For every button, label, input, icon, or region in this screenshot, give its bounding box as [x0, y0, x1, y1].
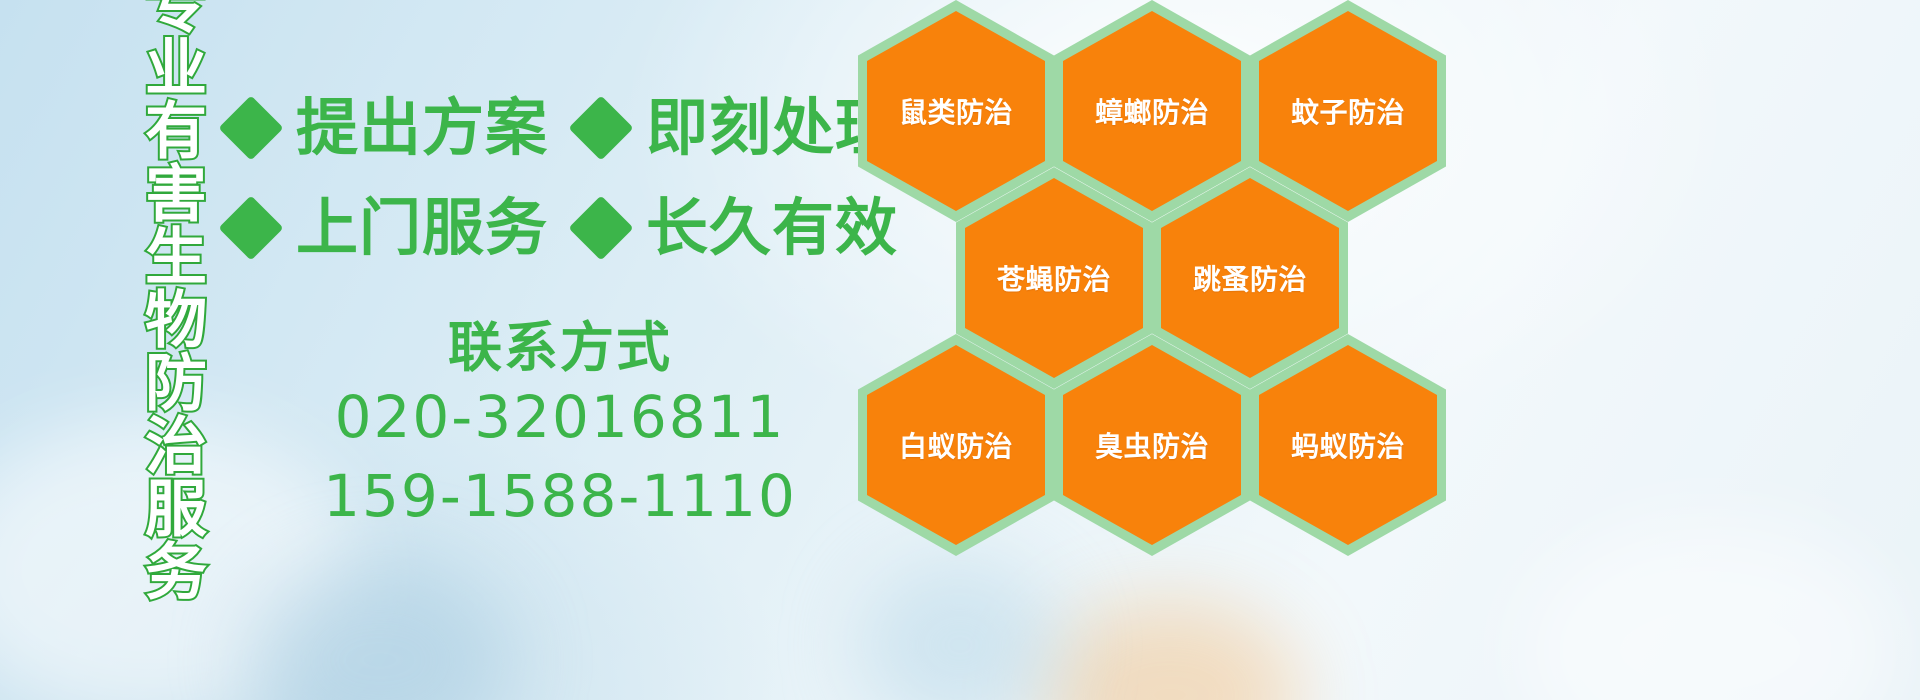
vertical-company-title: 专业有害生物防治服务 [108, 14, 200, 559]
service-label: 苍蝇防治 [997, 258, 1111, 298]
hex-inner-fill: 蟑螂防治 [1063, 11, 1241, 211]
hex-inner-fill: 跳蚤防治 [1161, 178, 1339, 378]
service-label: 臭虫防治 [1095, 425, 1209, 465]
background-blur-bottom-left [250, 560, 510, 700]
feature-label: 上门服务 [296, 197, 548, 259]
service-label: 蚂蚁防治 [1291, 425, 1405, 465]
contact-block: 联系方式 020-32016811 159-1588-1110 [300, 318, 820, 536]
contact-phone-landline[interactable]: 020-32016811 [300, 378, 820, 457]
service-label: 鼠类防治 [899, 91, 1013, 131]
hex-inner-fill: 臭虫防治 [1063, 345, 1241, 545]
feature-row: 上门服务 长久有效 [228, 178, 868, 278]
hex-inner-fill: 鼠类防治 [867, 11, 1045, 211]
hex-inner-fill: 苍蝇防治 [965, 178, 1143, 378]
hex-inner-fill: 蚂蚁防治 [1259, 345, 1437, 545]
diamond-bullet-icon [568, 95, 633, 160]
diamond-bullet-icon [218, 95, 283, 160]
background-blur-right [1520, 520, 1900, 700]
service-label: 白蚁防治 [899, 425, 1013, 465]
diamond-bullet-icon [568, 195, 633, 260]
service-hexagon-grid: 鼠类防治 蟑螂防治 蚊子防治 苍蝇防治 跳蚤防治 白蚁防 [858, 0, 1478, 554]
hex-inner-fill: 白蚁防治 [867, 345, 1045, 545]
service-label: 蚊子防治 [1291, 91, 1405, 131]
hex-inner-fill: 蚊子防治 [1259, 11, 1437, 211]
promo-banner: 专业有害生物防治服务 提出方案 即刻处理 上门服务 长久有效 联系方式 [0, 0, 1920, 700]
contact-title: 联系方式 [300, 318, 820, 378]
feature-item-onsite-service: 上门服务 [228, 197, 578, 259]
diamond-bullet-icon [218, 195, 283, 260]
feature-item-propose-plan: 提出方案 [228, 97, 578, 159]
feature-row: 提出方案 即刻处理 [228, 78, 868, 178]
background-blur-center [860, 560, 1060, 700]
background-blur-orange [1040, 600, 1300, 700]
service-label: 蟑螂防治 [1095, 91, 1209, 131]
service-label: 跳蚤防治 [1193, 258, 1307, 298]
feature-label: 提出方案 [296, 97, 548, 159]
feature-list: 提出方案 即刻处理 上门服务 长久有效 [228, 78, 868, 278]
contact-phone-mobile[interactable]: 159-1588-1110 [300, 457, 820, 536]
